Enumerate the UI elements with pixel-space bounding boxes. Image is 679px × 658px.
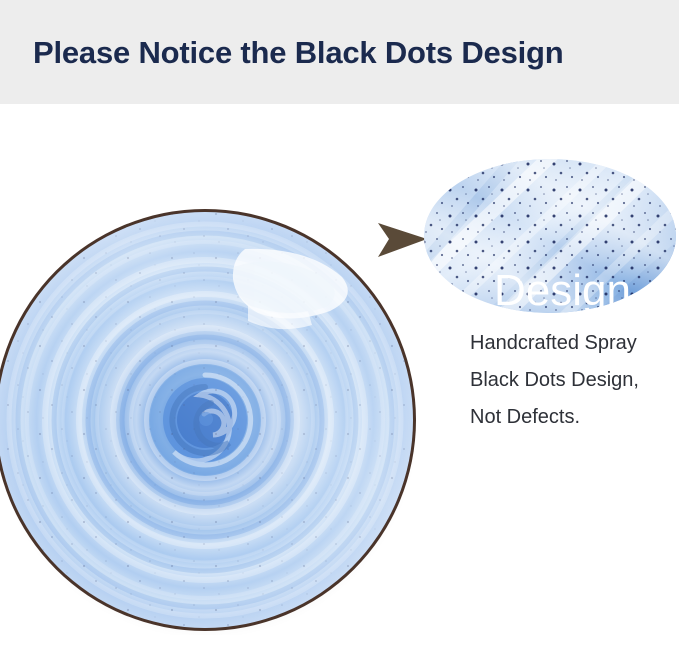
design-overlay-label: Design xyxy=(494,268,631,314)
description-block: Handcrafted Spray Black Dots Design, Not… xyxy=(470,325,675,436)
product-plate-image xyxy=(0,205,420,635)
description-line-3: Not Defects. xyxy=(470,399,675,436)
plate-surface-detail xyxy=(0,212,413,628)
description-line-1: Handcrafted Spray xyxy=(470,325,675,362)
description-line-2: Black Dots Design, xyxy=(470,362,675,399)
page-title: Please Notice the Black Dots Design xyxy=(33,33,663,73)
plate-illustration xyxy=(0,205,420,635)
product-detail-image: Please Notice the Black Dots Design xyxy=(0,0,679,658)
